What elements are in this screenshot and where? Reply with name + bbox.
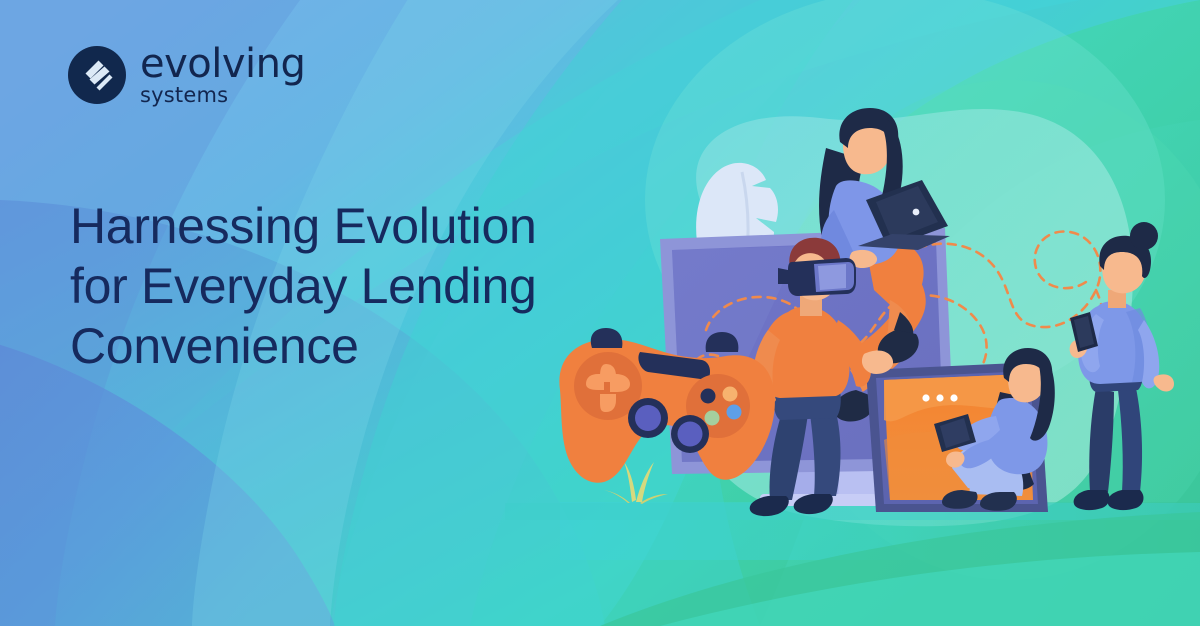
page-title: Harnessing Evolution for Everyday Lendin… <box>70 196 650 376</box>
brand-name: evolving <box>140 44 305 84</box>
headline-line-3: Convenience <box>70 316 650 376</box>
brand-wordmark: evolving systems <box>140 44 305 106</box>
hair-bun-icon <box>1130 222 1158 250</box>
button-c-icon <box>727 405 742 420</box>
marketing-banner: evolving systems Harnessing Evolution fo… <box>0 0 1200 626</box>
headline-line-2: for Everyday Lending <box>70 256 650 316</box>
evolving-systems-mark-icon <box>68 46 126 104</box>
brand-subname: systems <box>140 85 305 106</box>
headline-line-1: Harnessing Evolution <box>70 196 650 256</box>
button-d-icon <box>705 411 720 426</box>
button-b-icon <box>723 387 738 402</box>
phone-woman <box>1070 222 1174 510</box>
brand-logo[interactable]: evolving systems <box>68 44 305 106</box>
button-a-icon <box>701 389 716 404</box>
tablet-dots-icon <box>922 394 957 401</box>
